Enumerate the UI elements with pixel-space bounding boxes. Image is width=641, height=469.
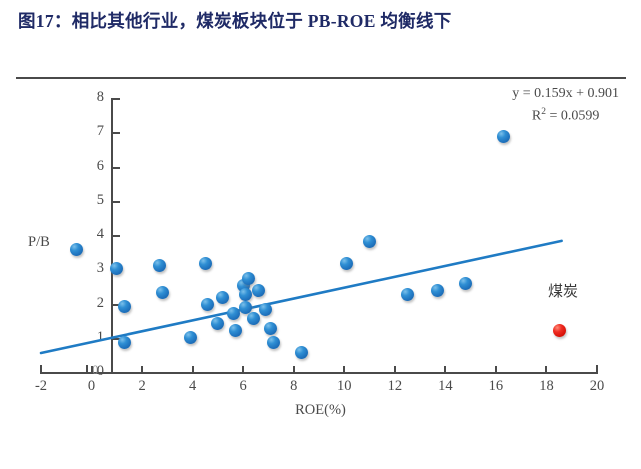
r-squared-symbol: R <box>532 109 541 124</box>
data-point <box>199 257 212 270</box>
regression-annotation: y = 0.159x + 0.901 R2 = 0.0599 <box>512 84 619 126</box>
data-point <box>247 312 260 325</box>
data-point <box>295 346 308 359</box>
r-squared-exponent: 2 <box>541 107 546 117</box>
data-point-coal <box>553 324 566 337</box>
r-squared-value: = 0.0599 <box>549 109 599 124</box>
data-point <box>229 324 242 337</box>
data-point <box>184 331 197 344</box>
data-point <box>118 300 131 313</box>
data-point <box>239 288 252 301</box>
scatter-chart: 0 012345678 -202468101214161820 P/B ROE(… <box>0 82 641 422</box>
data-point <box>70 243 83 256</box>
data-point <box>363 235 376 248</box>
data-point <box>118 336 131 349</box>
page-title: 图17：相比其他行业，煤炭板块位于 PB-ROE 均衡线下 <box>18 6 626 36</box>
data-point <box>227 307 240 320</box>
coal-sector-label: 煤炭 <box>533 280 593 301</box>
data-point <box>156 286 169 299</box>
r-squared-line: R2 = 0.0599 <box>512 103 619 126</box>
plot-area: 0 012345678 -202468101214161820 P/B ROE(… <box>0 82 641 422</box>
data-point <box>153 259 166 272</box>
regression-equation: y = 0.159x + 0.901 <box>512 84 619 103</box>
data-point <box>267 336 280 349</box>
data-point <box>242 272 255 285</box>
trendline <box>0 82 641 422</box>
title-divider <box>16 77 626 79</box>
data-point <box>401 288 414 301</box>
